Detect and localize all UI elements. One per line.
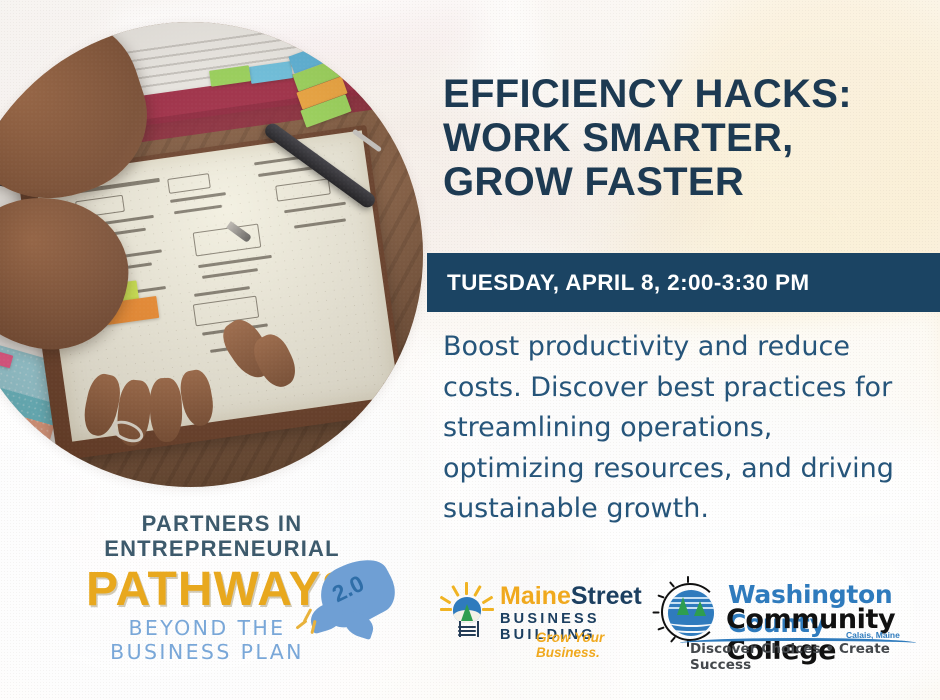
sun-spike xyxy=(657,594,664,598)
title-line-2: WORK SMARTER, xyxy=(443,116,913,160)
pine-tree-icon xyxy=(694,601,706,616)
pine-tree-icon xyxy=(677,597,689,615)
bulb-coil xyxy=(458,630,476,632)
bulb-ray xyxy=(440,596,452,605)
bulb-ray xyxy=(451,585,460,597)
sky-stripe xyxy=(668,597,714,599)
bulb-coil xyxy=(458,634,476,636)
bulb-ray xyxy=(473,585,482,597)
event-date-bar: TUESDAY, APRIL 8, 2:00-3:30 PM xyxy=(427,253,940,312)
mainestreet-name: MaineStreet xyxy=(500,584,642,609)
pep-logo-tagline: BEYOND THE BUSINESS PLAN xyxy=(82,616,332,664)
bulb-ray xyxy=(482,596,494,605)
wccc-logo: Washington County Community College Cala… xyxy=(658,578,918,658)
mainestreet-name-part2: Street xyxy=(571,582,642,610)
promotional-flyer: EFFICIENCY HACKS: WORK SMARTER, GROW FAS… xyxy=(0,0,940,700)
sun-spike xyxy=(657,626,664,630)
title-line-1: EFFICIENCY HACKS: xyxy=(443,72,913,116)
bulb-ray xyxy=(440,608,452,611)
wccc-tagline: Discover Choices • Create Success xyxy=(690,641,918,673)
pep-tagline-line1: BEYOND THE xyxy=(82,616,332,640)
bulb-ray xyxy=(482,608,494,611)
mainestreet-logo: MaineStreet BUSINESS BUILDING Grow Your … xyxy=(440,578,640,658)
finger xyxy=(149,377,183,442)
pine-tree-icon xyxy=(461,604,473,621)
sky-stripe xyxy=(668,607,714,609)
sun-spike xyxy=(670,636,676,643)
emblem-scene xyxy=(668,590,714,636)
sky-stripe xyxy=(668,602,714,604)
water-wave xyxy=(668,628,714,636)
sun-spike xyxy=(653,612,660,614)
page-title: EFFICIENCY HACKS: WORK SMARTER, GROW FAS… xyxy=(443,72,913,204)
mainestreet-tagline: Grow Your Business. xyxy=(536,630,640,660)
pep-tagline-line2: BUSINESS PLAN xyxy=(82,640,332,664)
pep-logo-line1: PARTNERS IN xyxy=(92,512,352,537)
mainestreet-name-part1: Maine xyxy=(500,582,571,610)
lightbulb-icon xyxy=(440,582,494,640)
title-line-3: GROW FASTER xyxy=(443,160,913,204)
bulb-ray xyxy=(465,582,468,595)
event-description: Boost productivity and reduce costs. Dis… xyxy=(443,327,898,530)
pep-logo: PARTNERS IN ENTREPRENEURIAL PATHWAYS 2.0… xyxy=(78,512,408,672)
wccc-emblem-icon xyxy=(658,580,720,642)
hands-writing-planner-photo xyxy=(0,22,423,487)
sun-spike xyxy=(669,581,675,588)
event-date-text: TUESDAY, APRIL 8, 2:00-3:30 PM xyxy=(427,270,810,296)
bulb-coil xyxy=(458,626,476,628)
sun-spike xyxy=(687,576,689,583)
